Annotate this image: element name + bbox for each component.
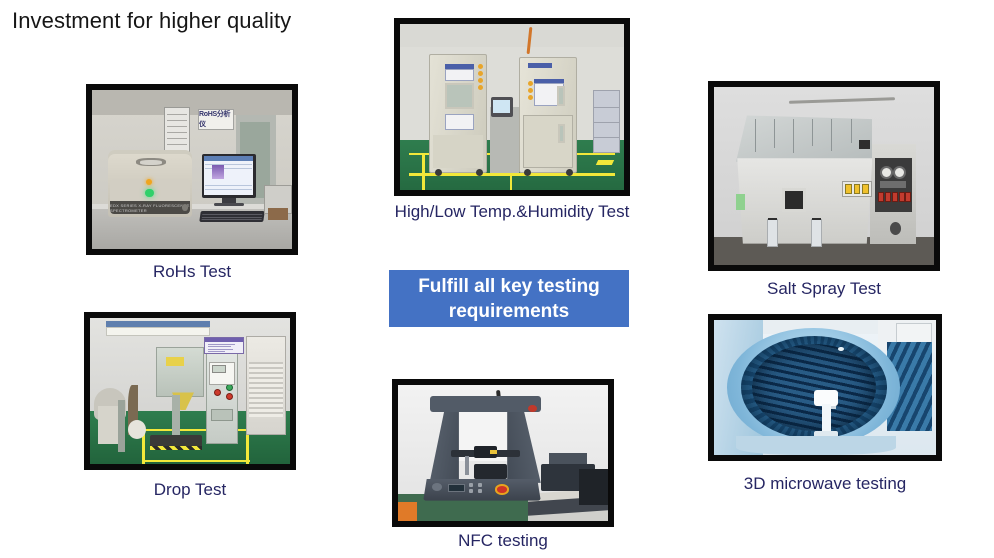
chamber-right-caster-2 — [566, 169, 573, 176]
caption-drop-test: Drop Test — [84, 480, 296, 500]
reservoir-bottle-2 — [811, 219, 822, 247]
stop-button[interactable] — [214, 389, 221, 396]
antenna-pedestal-stem — [822, 404, 831, 434]
chamber-left-lower-door — [433, 135, 482, 168]
photo-rohs-test: RoHS分析仪 EDX SERIES X-RAY FLUORESCENCE SP… — [86, 84, 298, 255]
orange-edge — [398, 502, 417, 521]
drop-test-head — [156, 347, 204, 397]
inspection-tag — [736, 194, 745, 210]
upper-wall — [92, 90, 292, 115]
photo-nfc-testing — [392, 379, 614, 527]
chamber-right-led-1 — [528, 81, 533, 86]
chamber-right-lower-window — [558, 124, 565, 142]
sensor-box — [859, 140, 870, 149]
start-button[interactable] — [226, 384, 233, 391]
cabinet-knob[interactable] — [890, 222, 901, 234]
key-testing-callout: Fulfill all key testing requirements — [389, 270, 629, 327]
spectrometer-label-strip: EDX SERIES X-RAY FLUORESCENCE SPECTROMET… — [110, 201, 190, 214]
switch-2[interactable] — [885, 192, 891, 202]
fixture-block — [474, 464, 508, 479]
callout-line-1: Fulfill all key testing — [418, 274, 600, 299]
chamber-right-window — [557, 86, 565, 107]
photo-3d-microwave-testing — [708, 314, 942, 461]
chamber-left-control-panel — [445, 69, 474, 81]
photo-salt-spray-test — [708, 81, 940, 271]
caption-salt-spray-test: Salt Spray Test — [708, 279, 940, 299]
door-knob — [182, 204, 188, 210]
yellow-button-1[interactable] — [845, 184, 852, 194]
pressure-gauge-1 — [880, 166, 893, 179]
card-nfc-testing[interactable]: NFC testing — [392, 379, 614, 558]
yellow-button-2[interactable] — [854, 184, 861, 194]
climate-chamber-right — [519, 57, 577, 173]
card-salt-spray-test[interactable]: Salt Spray Test — [708, 81, 940, 303]
caption-3d-microwave-testing: 3D microwave testing — [708, 474, 942, 494]
scene-rohs-test: RoHS分析仪 EDX SERIES X-RAY FLUORESCENCE SP… — [92, 90, 292, 249]
chamber-left-window — [445, 83, 474, 109]
chamber-left-led-3 — [478, 78, 483, 83]
reset-button[interactable] — [226, 393, 233, 400]
sample-hatch-inner — [140, 160, 162, 165]
switch-4[interactable] — [899, 192, 905, 202]
rear-corridor — [490, 107, 519, 173]
display-readout — [880, 181, 906, 188]
switch-3[interactable] — [892, 192, 898, 202]
chamber-left-led-2 — [478, 71, 483, 76]
scene-nfc-testing — [398, 385, 608, 521]
purple-info-sign — [204, 337, 244, 355]
slide-canvas: Investment for higher quality RoHS分析仪 — [0, 0, 994, 558]
scene-drop-test — [90, 318, 290, 464]
scene-temp-humidity-test — [400, 24, 624, 190]
pressure-gauge-2 — [893, 166, 906, 179]
brand-emblem — [432, 483, 443, 491]
counter-display — [212, 365, 226, 374]
chamber-left-caster-1 — [435, 169, 442, 176]
keypad[interactable] — [469, 483, 486, 494]
card-3d-microwave-testing[interactable]: 3D microwave testing — [708, 314, 942, 504]
sign-header-bar — [205, 338, 243, 342]
chamber-lid — [736, 115, 872, 161]
chamber-left-label — [445, 114, 474, 130]
photo-temp-humidity-test — [394, 18, 630, 196]
keyboard — [199, 211, 265, 222]
red-knob[interactable] — [528, 405, 536, 412]
ceiling-probe — [838, 347, 844, 351]
sample-image-preview — [212, 165, 224, 179]
page-title: Investment for higher quality — [12, 8, 291, 34]
cardboard-box — [268, 208, 288, 221]
card-rohs-test[interactable]: RoHS分析仪 EDX SERIES X-RAY FLUORESCENCE SP… — [86, 84, 298, 280]
rohs-sign-text: RoHS分析仪 — [199, 110, 233, 129]
control-panel-face — [875, 158, 912, 211]
caption-temp-humidity-test: High/Low Temp.&Humidity Test — [394, 202, 630, 222]
chamber-left-led-1 — [478, 64, 483, 69]
chamber-right-lower-door — [523, 115, 572, 168]
test-head-indicator — [490, 450, 496, 454]
callout-line-2: requirements — [418, 299, 600, 324]
rohs-wall-sign: RoHS分析仪 — [198, 109, 234, 130]
chamber-right-led-2 — [528, 88, 533, 93]
climate-chamber-left — [429, 54, 487, 174]
chamber-floor — [736, 436, 896, 455]
ceiling-light — [106, 327, 210, 336]
instrument-label-text: EDX SERIES X-RAY FLUORESCENCE SPECTROMET… — [110, 201, 190, 214]
yellow-button-3[interactable] — [862, 184, 869, 194]
ceiling — [400, 24, 624, 47]
switch-5[interactable] — [905, 192, 911, 202]
photo-drop-test — [84, 312, 296, 470]
chamber-left-led-4 — [478, 85, 483, 90]
scene-3d-microwave-testing — [714, 320, 936, 455]
support-post — [118, 400, 125, 453]
caption-rohs-test: RoHs Test — [86, 262, 298, 282]
monitor-base — [214, 203, 244, 206]
bottle-cap-1 — [768, 218, 777, 221]
reservoir-bottle-1 — [767, 219, 778, 247]
warning-label — [166, 357, 184, 366]
hazard-stripe — [150, 446, 202, 450]
gantry-crossbar — [430, 396, 541, 412]
machine-column — [172, 395, 180, 437]
card-temp-humidity-test[interactable]: High/Low Temp.&Humidity Test — [394, 18, 630, 223]
chamber-right-top-label — [528, 63, 553, 69]
chamber-right-led-3 — [528, 95, 533, 100]
spindle — [465, 456, 469, 475]
caption-nfc-testing: NFC testing — [392, 531, 614, 551]
yellow-button-panel — [842, 181, 873, 197]
floor-tape-line-left — [422, 153, 424, 190]
switch-1[interactable] — [878, 192, 884, 202]
cabinet-nameplate — [211, 409, 233, 421]
touchscreen-hmi-display — [493, 100, 510, 113]
green-indicator-light — [145, 189, 154, 198]
floor-marker — [596, 160, 614, 165]
software-titlebar — [204, 156, 253, 162]
floor-tape-bottom — [142, 460, 250, 462]
absorber-inner-chamber — [752, 344, 876, 430]
chamber-viewport — [782, 188, 806, 211]
lcd-display — [448, 484, 465, 492]
card-drop-test[interactable]: Drop Test — [84, 312, 296, 507]
metal-shelf — [593, 90, 620, 153]
bottle-cap-2 — [812, 218, 821, 221]
air-conditioner-grille — [249, 362, 283, 417]
rear-equipment — [579, 469, 608, 504]
scene-salt-spray-test — [714, 87, 934, 265]
